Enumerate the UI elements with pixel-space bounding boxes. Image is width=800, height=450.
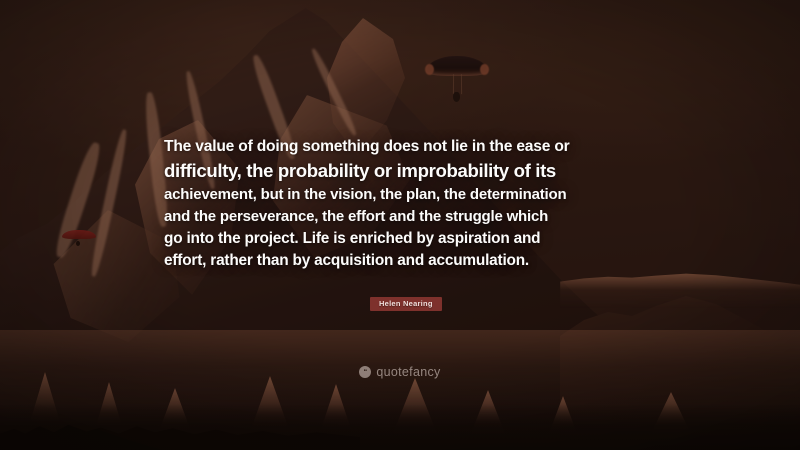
quote-text: The value of doing something does not li… [164, 136, 642, 272]
quote-poster: The value of doing something does not li… [0, 0, 800, 450]
quote-line: difficulty, the probability or improbabi… [164, 158, 642, 184]
quote-line: effort, rather than by acquisition and a… [164, 250, 642, 272]
quote-line: go into the project. Life is enriched by… [164, 228, 642, 250]
quote-line: achievement, but in the vision, the plan… [164, 184, 642, 206]
quote-line: The value of doing something does not li… [164, 136, 642, 158]
quote-line: and the perseverance, the effort and the… [164, 206, 642, 228]
watermark-brand-label: quotefancy [376, 365, 440, 379]
author-badge: Helen Nearing [370, 297, 442, 311]
quote-mark-icon: “ [359, 366, 371, 378]
watermark: “ quotefancy [0, 365, 800, 379]
